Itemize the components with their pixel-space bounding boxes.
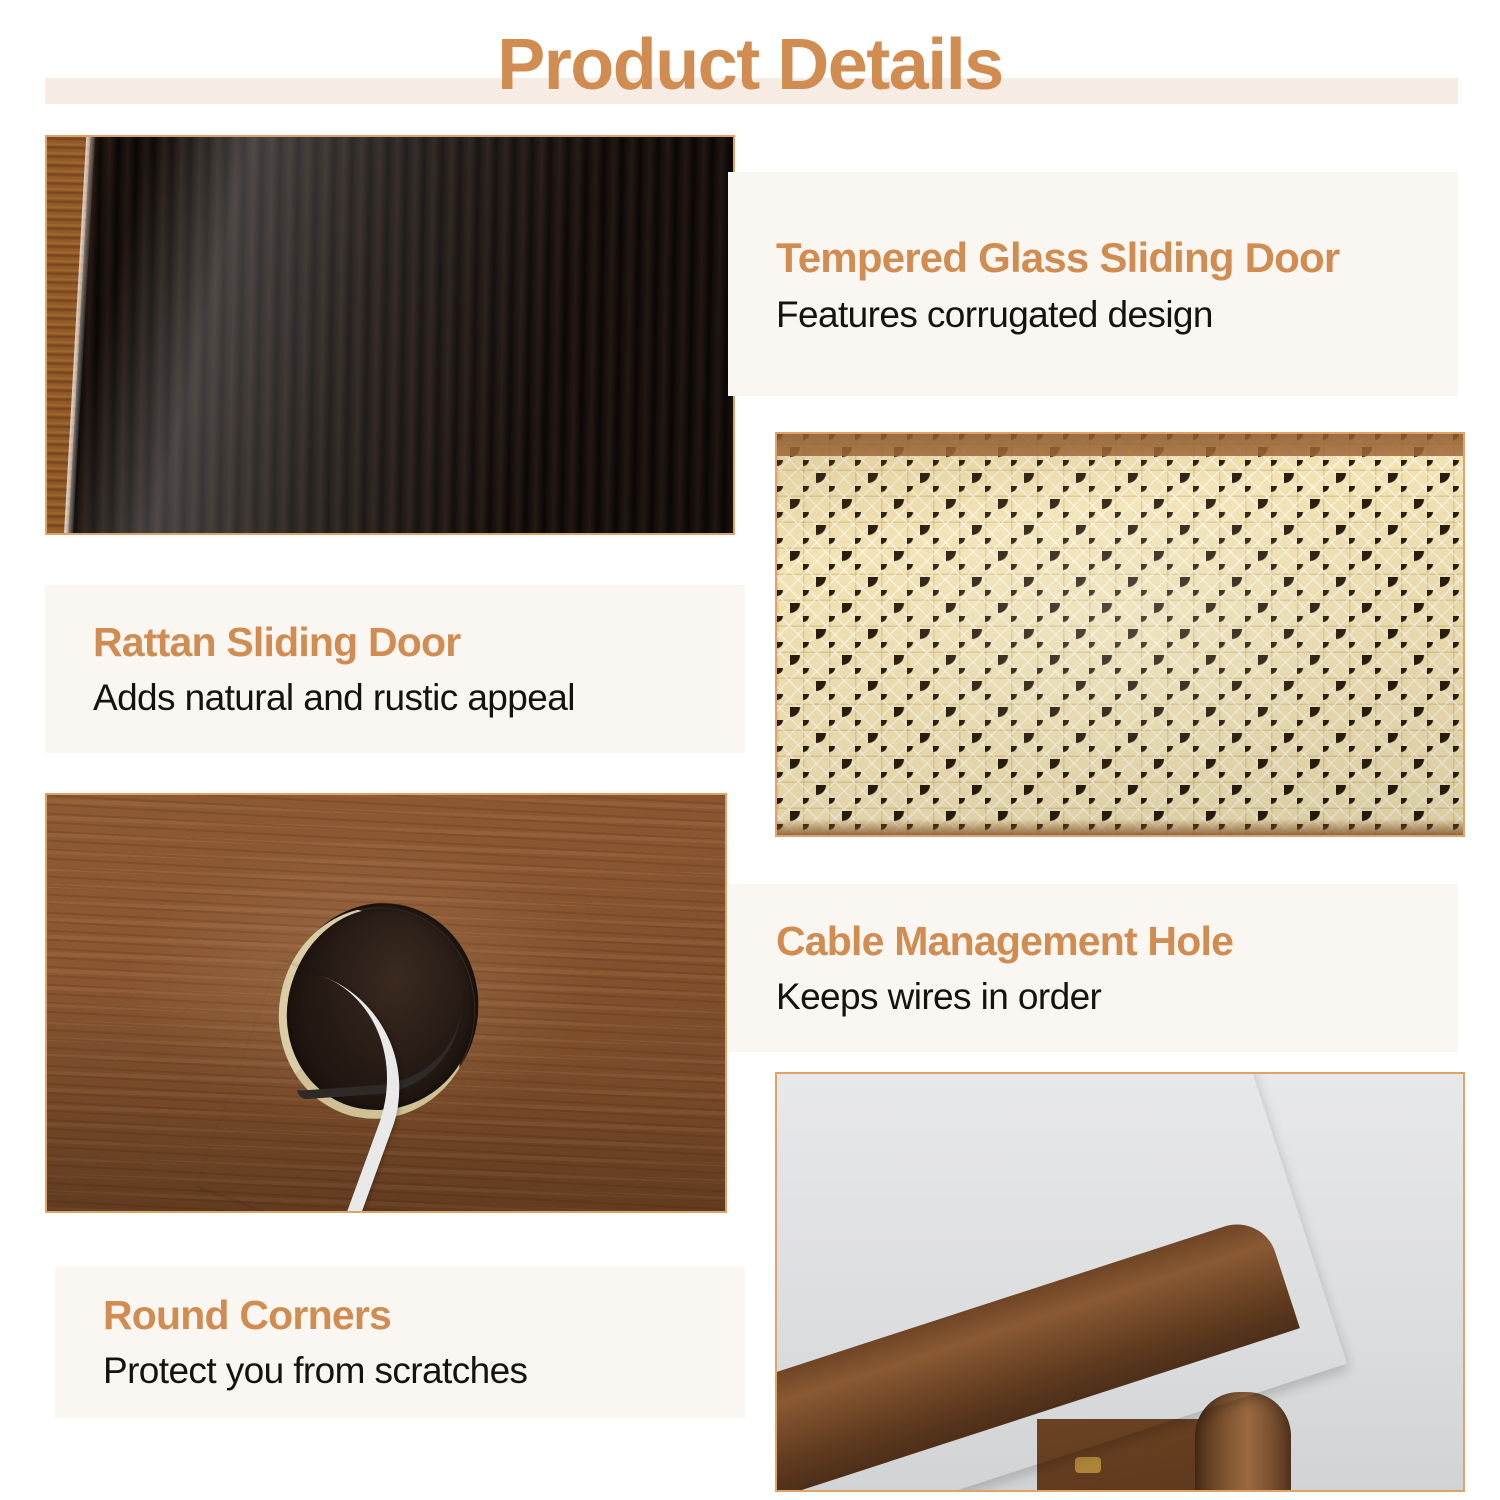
feature-card-cable-management-hole: Cable Management Hole Keeps wires in ord… <box>728 884 1458 1052</box>
feature-card-tempered-glass-sliding-door: Tempered Glass Sliding Door Features cor… <box>728 172 1458 396</box>
rattan-backing <box>777 434 1463 835</box>
feature-heading: Tempered Glass Sliding Door <box>776 231 1410 284</box>
rattan-cane-weave-photo <box>775 432 1465 837</box>
corrugated-glass-door-photo <box>45 135 735 535</box>
feature-subtext: Keeps wires in order <box>776 974 1410 1020</box>
rattan-top-wood-strip <box>777 434 1463 456</box>
page-title: Product Details <box>0 22 1500 108</box>
cable-hole-photo <box>45 793 727 1213</box>
feature-card-rattan-sliding-door: Rattan Sliding Door Adds natural and rus… <box>45 585 745 753</box>
feature-subtext: Features corrugated design <box>776 292 1410 338</box>
cabinet-hinge <box>1075 1457 1101 1473</box>
feature-heading: Cable Management Hole <box>776 916 1410 966</box>
rattan-weave-pattern <box>777 434 1463 835</box>
rattan-bottom-wood-strip <box>777 819 1463 835</box>
rounded-wood-corner-photo <box>775 1072 1465 1492</box>
feature-subtext: Adds natural and rustic appeal <box>93 675 697 721</box>
glass-sheen <box>47 137 733 533</box>
product-details-infographic: Product Details Tempered Glass Sliding D… <box>0 0 1500 1500</box>
feature-subtext: Protect you from scratches <box>103 1348 697 1394</box>
feature-heading: Rattan Sliding Door <box>93 617 697 667</box>
feature-heading: Round Corners <box>103 1290 697 1340</box>
header: Product Details <box>0 0 1500 135</box>
feature-card-round-corners: Round Corners Protect you from scratches <box>55 1266 745 1418</box>
